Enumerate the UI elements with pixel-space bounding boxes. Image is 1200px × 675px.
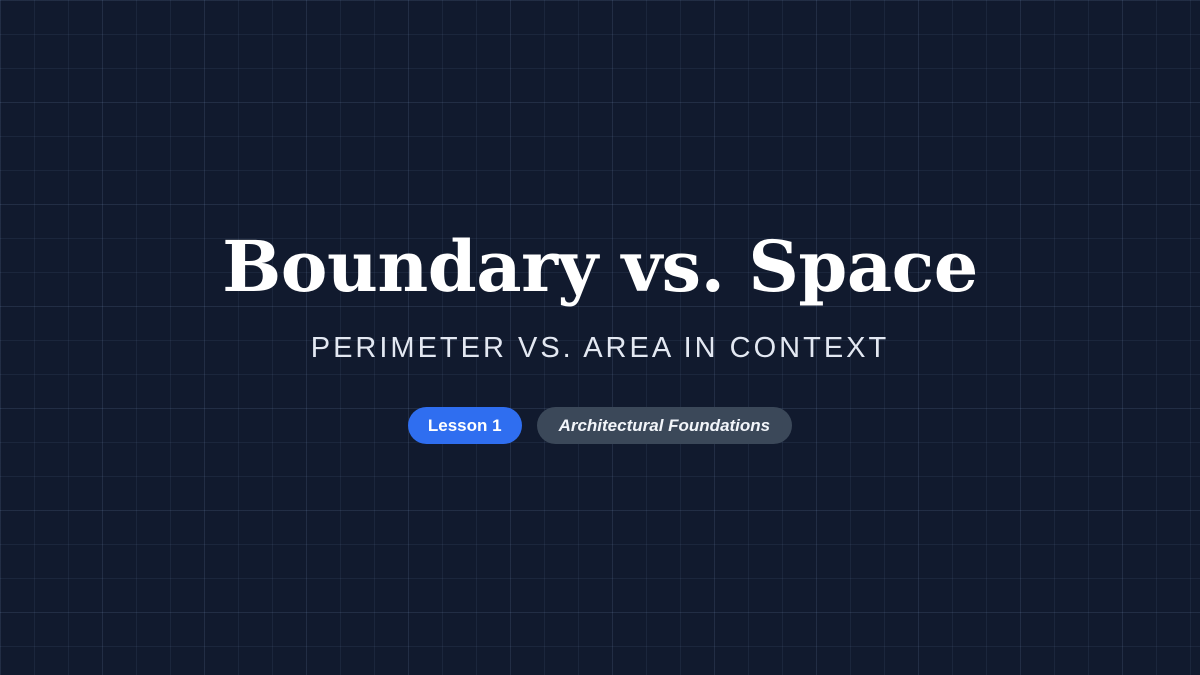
page-title: Boundary vs. Space [222, 232, 978, 302]
slide-content: Boundary vs. Space PERIMETER VS. AREA IN… [0, 0, 1200, 675]
page-subtitle: PERIMETER VS. AREA IN CONTEXT [311, 334, 890, 363]
title-slide: Boundary vs. Space PERIMETER VS. AREA IN… [0, 0, 1200, 675]
lesson-badge: Lesson 1 [408, 407, 522, 444]
badge-row: Lesson 1 Architectural Foundations [408, 407, 792, 444]
topic-badge: Architectural Foundations [537, 407, 793, 444]
